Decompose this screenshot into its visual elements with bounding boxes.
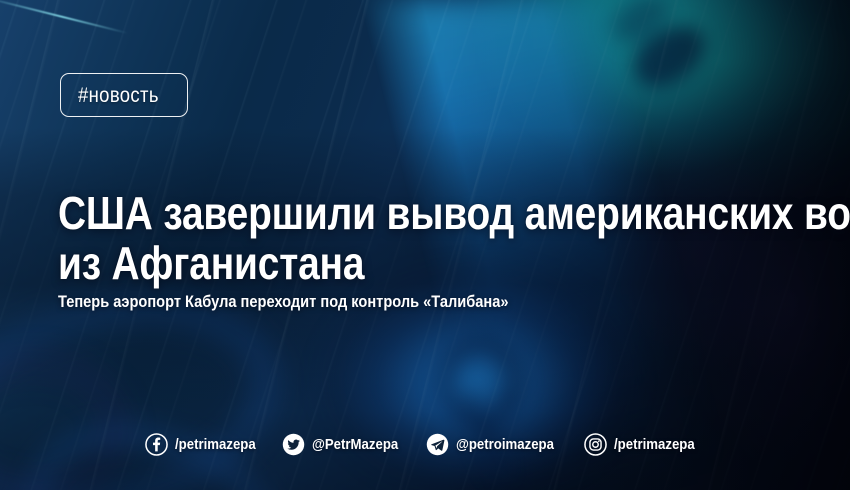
facebook-handle: /petrimazepa	[175, 437, 256, 452]
card-content: #новость США завершили вывод американски…	[0, 0, 850, 490]
social-links-bar: /petrimazepa @PetrMazepa	[0, 433, 850, 456]
headline-line-2: из Афганистана	[58, 238, 683, 288]
instagram-icon	[584, 433, 607, 456]
social-link-facebook[interactable]: /petrimazepa	[145, 433, 267, 456]
twitter-icon	[282, 433, 305, 456]
news-tag-label: #новость	[78, 85, 159, 106]
telegram-icon	[426, 433, 449, 456]
social-link-telegram[interactable]: @petroimazepa	[426, 433, 567, 456]
twitter-handle: @PetrMazepa	[312, 437, 398, 452]
news-card: #новость США завершили вывод американски…	[0, 0, 850, 490]
instagram-handle: /petrimazepa	[614, 437, 695, 452]
social-link-instagram[interactable]: /petrimazepa	[584, 433, 706, 456]
social-link-twitter[interactable]: @PetrMazepa	[282, 433, 410, 456]
page-title: США завершили вывод американских военных…	[58, 188, 798, 288]
facebook-icon	[145, 433, 168, 456]
telegram-handle: @petroimazepa	[456, 437, 554, 452]
page-subtitle: Теперь аэропорт Кабула переходит под кон…	[58, 292, 509, 312]
headline-line-1: США завершили вывод американских военных	[58, 188, 683, 238]
news-tag-badge[interactable]: #новость	[60, 73, 188, 117]
